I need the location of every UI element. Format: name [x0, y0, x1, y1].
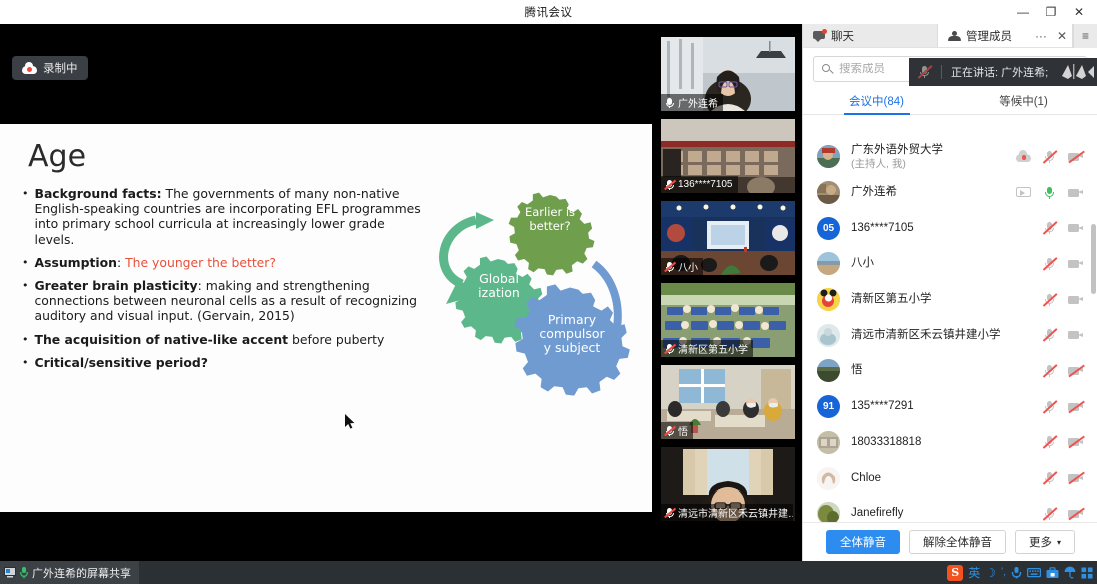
ime-toolbox-icon[interactable]	[1046, 567, 1059, 579]
participant-name: 悟	[851, 364, 863, 377]
subtab-in-meeting[interactable]: 会议中(84)	[803, 88, 950, 114]
video-thumbnail[interactable]: 广外连希	[661, 37, 795, 111]
participant-status-icons	[1016, 150, 1084, 164]
participant-status-icons	[1042, 507, 1084, 521]
bullet-rest: :	[117, 255, 125, 270]
subtab-waiting[interactable]: 等候中(1)	[950, 88, 1097, 114]
mic-icon	[664, 97, 675, 109]
avatar-initials: 05	[823, 223, 834, 234]
table-row[interactable]: 广外连希	[803, 175, 1097, 211]
video-thumbnail[interactable]: 136****7105	[661, 119, 795, 193]
panel-tab-bar: 聊天 管理成员 ··· ✕ ≡	[803, 24, 1097, 48]
minimize-button[interactable]: —	[1009, 1, 1037, 23]
participant-name: 135****7291	[851, 400, 914, 413]
table-row[interactable]: 八小	[803, 246, 1097, 282]
mic-muted-icon[interactable]	[1042, 471, 1057, 485]
camera-off-icon[interactable]	[1068, 258, 1084, 270]
camera-muted-icon[interactable]	[1068, 401, 1084, 413]
ime-umbrella-icon[interactable]	[1064, 566, 1076, 579]
mic-muted-icon	[664, 261, 675, 273]
mic-muted-icon[interactable]	[1042, 150, 1057, 164]
bullet-bold: Assumption	[35, 255, 117, 270]
panel-footer: 全体静音 解除全体静音 更多 ▾	[803, 522, 1097, 561]
bullet-bold: Background facts:	[35, 186, 162, 201]
presentation-slide: Age • Background facts: The governments …	[0, 124, 652, 512]
camera-muted-icon[interactable]	[1068, 151, 1084, 163]
camera-off-icon[interactable]	[1068, 329, 1084, 341]
windows-taskbar: 广外连希的屏幕共享 S 英 ☽ ʼ,	[0, 561, 1097, 584]
bullet-highlight: The younger the better?	[125, 255, 276, 270]
thumbnail-label: 悟	[661, 422, 693, 439]
camera-off-icon[interactable]	[1068, 222, 1084, 234]
toast-divider	[941, 65, 942, 79]
bullet-dot-icon: •	[22, 332, 29, 347]
participant-status-icons	[1042, 221, 1084, 235]
mic-muted-icon	[664, 343, 675, 355]
bullet-dot-icon: •	[22, 186, 29, 247]
mic-icon	[20, 567, 28, 579]
maximize-button[interactable]: ❐	[1037, 1, 1065, 23]
avatar	[817, 324, 840, 347]
video-thumbnail[interactable]: 清远市清新区禾云镇井建…	[661, 447, 795, 521]
avatar	[817, 145, 840, 168]
mic-muted-icon[interactable]	[1042, 257, 1057, 271]
avatar-image	[817, 359, 840, 382]
hamburger-menu-icon[interactable]: ≡	[1073, 24, 1097, 48]
bullet-bold: The acquisition of native-like accent	[35, 332, 289, 347]
unmute-all-button[interactable]: 解除全体静音	[909, 530, 1006, 554]
list-item: • Background facts: The governments of m…	[22, 186, 422, 247]
camera-muted-icon[interactable]	[1068, 508, 1084, 520]
participant-status-icons	[1042, 435, 1084, 449]
camera-muted-icon[interactable]	[1068, 472, 1084, 484]
video-thumbnail[interactable]: 八小	[661, 201, 795, 275]
panel-subtab-bar: 会议中(84) 等候中(1)	[803, 88, 1097, 115]
shared-screen-area: 录制中 Age • Background facts: The governme…	[0, 24, 656, 561]
thumbnail-name: 广外连希	[678, 95, 718, 110]
participant-status-icons	[1042, 328, 1084, 342]
taskbar-item-label: 广外连希的屏幕共享	[32, 565, 131, 581]
bullet-dot-icon: •	[22, 255, 29, 270]
mic-muted-icon[interactable]	[1042, 507, 1057, 521]
video-thumbnail[interactable]: 悟	[661, 365, 795, 439]
avatar	[817, 502, 840, 522]
taskbar-item-screen-share[interactable]: 广外连希的屏幕共享	[0, 561, 139, 584]
table-row[interactable]: Chloe	[803, 460, 1097, 496]
mic-muted-icon	[664, 425, 675, 437]
avatar	[817, 359, 840, 382]
participant-name: 广东外语外贸大学	[851, 144, 943, 157]
screen-share-icon[interactable]	[1016, 187, 1031, 199]
avatar	[817, 288, 840, 311]
camera-muted-icon[interactable]	[1068, 436, 1084, 448]
bullet-dot-icon: •	[22, 355, 29, 370]
participant-list[interactable]: 广东外语外贸大学 (主持人, 我) 广外连希	[803, 139, 1097, 522]
search-icon	[822, 64, 833, 75]
avatar-initials: 91	[823, 401, 834, 412]
list-item: • Greater brain plasticity: making and s…	[22, 278, 422, 324]
mic-muted-icon	[917, 65, 932, 79]
mic-muted-icon[interactable]	[1042, 328, 1057, 342]
participant-status-icons	[1042, 293, 1084, 307]
slide-bullet-list: • Background facts: The governments of m…	[22, 186, 422, 378]
camera-off-icon[interactable]	[1068, 187, 1084, 199]
participant-name: 八小	[851, 257, 874, 270]
ime-punctuation-icon[interactable]: ʼ,	[1001, 567, 1006, 578]
bullet-dot-icon: •	[22, 278, 29, 324]
tab-chat[interactable]: 聊天	[803, 24, 938, 47]
recording-badge: 录制中	[12, 56, 88, 80]
participant-status-icons	[1042, 400, 1084, 414]
avatar: 05	[817, 217, 840, 240]
video-thumbnail-strip: 广外连希 136****7105	[656, 24, 802, 561]
close-panel-icon[interactable]: ✕	[1052, 29, 1072, 43]
avatar	[817, 252, 840, 275]
avatar-image	[817, 324, 840, 347]
list-item: • Critical/sensitive period?	[22, 355, 422, 370]
table-row[interactable]: 悟	[803, 353, 1097, 389]
app-title: 腾讯会议	[0, 4, 1097, 20]
thumbnail-name: 136****7105	[678, 179, 733, 190]
monitor-icon	[4, 567, 16, 578]
speaking-notification-toast: 正在讲话: 广外连希;	[909, 58, 1097, 86]
mic-muted-icon[interactable]	[1042, 435, 1057, 449]
mic-muted-icon	[664, 179, 675, 191]
avatar-image	[817, 431, 840, 454]
thumbnail-name: 八小	[678, 259, 698, 274]
mouse-cursor-icon	[345, 414, 356, 429]
participant-list-scrollbar[interactable]	[1091, 224, 1096, 294]
mic-on-icon[interactable]	[1042, 186, 1057, 200]
avatar	[817, 181, 840, 204]
speaking-text: 正在讲话: 广外连希;	[951, 64, 1048, 80]
thumbnail-name: 清远市清新区禾云镇井建…	[678, 505, 793, 520]
participant-name: 广外连希	[851, 186, 897, 199]
bullet-rest: before puberty	[288, 332, 384, 347]
slide-title: Age	[28, 139, 86, 174]
gear-label-top: Earlier is better?	[518, 205, 582, 233]
audio-wave-icon	[1060, 62, 1094, 82]
participant-name: Chloe	[851, 472, 881, 485]
table-row[interactable]: 清新区第五小学	[803, 282, 1097, 318]
participant-status-icons	[1016, 186, 1084, 200]
bullet-bold: Greater brain plasticity	[35, 278, 198, 293]
cloud-record-icon	[22, 63, 37, 74]
avatar	[817, 431, 840, 454]
thumbnail-label: 136****7105	[661, 176, 738, 193]
avatar-image	[817, 502, 840, 522]
participant-status-icons	[1042, 257, 1084, 271]
ime-voice-icon[interactable]	[1011, 566, 1022, 579]
thumbnail-label: 清远市清新区禾云镇井建…	[661, 504, 793, 521]
close-button[interactable]: ✕	[1065, 1, 1093, 23]
mic-muted-icon[interactable]	[1042, 293, 1057, 307]
participant-status-icons	[1042, 471, 1084, 485]
mic-muted-icon[interactable]	[1042, 221, 1057, 235]
bullet-bold: Critical/sensitive period?	[35, 355, 209, 370]
mic-muted-icon[interactable]	[1042, 364, 1057, 378]
thumbnail-name: 悟	[678, 423, 688, 438]
list-item: • Assumption: The younger the better?	[22, 255, 422, 270]
participant-role: (主持人, 我)	[851, 158, 943, 170]
table-row[interactable]: 91 135****7291	[803, 389, 1097, 425]
avatar-image	[817, 181, 840, 204]
thumbnail-name: 清新区第五小学	[678, 341, 748, 356]
camera-off-icon[interactable]	[1068, 294, 1084, 306]
gear-diagram: Earlier is better? Global ization Primar…	[418, 172, 648, 402]
thumbnail-label: 八小	[661, 258, 703, 275]
participant-name: 清新区第五小学	[851, 293, 932, 306]
ime-moon-icon[interactable]: ☽	[985, 566, 996, 580]
participant-status-icons	[1042, 364, 1084, 378]
tab-manage-members-label: 管理成员	[966, 28, 1012, 44]
list-item: • The acquisition of native-like accent …	[22, 332, 422, 347]
system-tray: S 英 ☽ ʼ,	[947, 561, 1093, 584]
table-row[interactable]: 清远市清新区禾云镇井建小学	[803, 317, 1097, 353]
chat-icon	[813, 30, 826, 41]
more-button[interactable]: 更多 ▾	[1015, 530, 1075, 554]
more-button-label: 更多	[1029, 534, 1052, 550]
tab-manage-members[interactable]: 管理成员 ··· ✕	[938, 24, 1073, 47]
ime-apps-icon[interactable]	[1081, 567, 1093, 579]
participant-name: Janefirefly	[851, 507, 903, 520]
mic-muted-icon[interactable]	[1042, 400, 1057, 414]
window-controls: — ❐ ✕	[1009, 0, 1093, 24]
table-row[interactable]: 05 136****7105	[803, 210, 1097, 246]
gear-label-left: Global ization	[462, 272, 536, 300]
avatar-image	[817, 288, 840, 311]
avatar-image	[817, 252, 840, 275]
participant-name: 136****7105	[851, 222, 914, 235]
video-thumbnail[interactable]: 清新区第五小学	[661, 283, 795, 357]
avatar: 91	[817, 395, 840, 418]
avatar-image	[817, 467, 840, 490]
avatar-image	[817, 145, 840, 168]
participant-name: 清远市清新区禾云镇井建小学	[851, 329, 1001, 342]
ime-language-icon[interactable]: 英	[968, 564, 980, 581]
table-row[interactable]: 广东外语外贸大学 (主持人, 我)	[803, 139, 1097, 175]
more-options-icon[interactable]: ···	[1030, 29, 1052, 43]
camera-muted-icon[interactable]	[1068, 365, 1084, 377]
thumbnail-label: 广外连希	[661, 94, 723, 111]
participant-name: 18033318818	[851, 436, 921, 449]
tab-chat-label: 聊天	[831, 28, 854, 44]
manage-members-icon	[948, 30, 961, 42]
mic-muted-icon	[664, 507, 675, 519]
table-row[interactable]: Janefirefly	[803, 496, 1097, 522]
recording-label: 录制中	[43, 60, 78, 76]
thumbnail-label: 清新区第五小学	[661, 340, 753, 357]
gear-label-right: Primary compulsor y subject	[534, 313, 610, 355]
ime-keyboard-icon[interactable]	[1027, 567, 1041, 578]
avatar	[817, 467, 840, 490]
table-row[interactable]: 18033318818	[803, 425, 1097, 461]
window-title-bar: 腾讯会议 — ❐ ✕	[0, 0, 1097, 24]
mute-all-button[interactable]: 全体静音	[826, 530, 900, 554]
sogou-logo-icon[interactable]: S	[947, 565, 963, 581]
members-panel: 聊天 管理成员 ··· ✕ ≡ 正在讲话: 广外连希;	[802, 24, 1097, 561]
cloud-record-icon[interactable]	[1016, 151, 1031, 163]
chevron-down-icon: ▾	[1057, 538, 1061, 547]
